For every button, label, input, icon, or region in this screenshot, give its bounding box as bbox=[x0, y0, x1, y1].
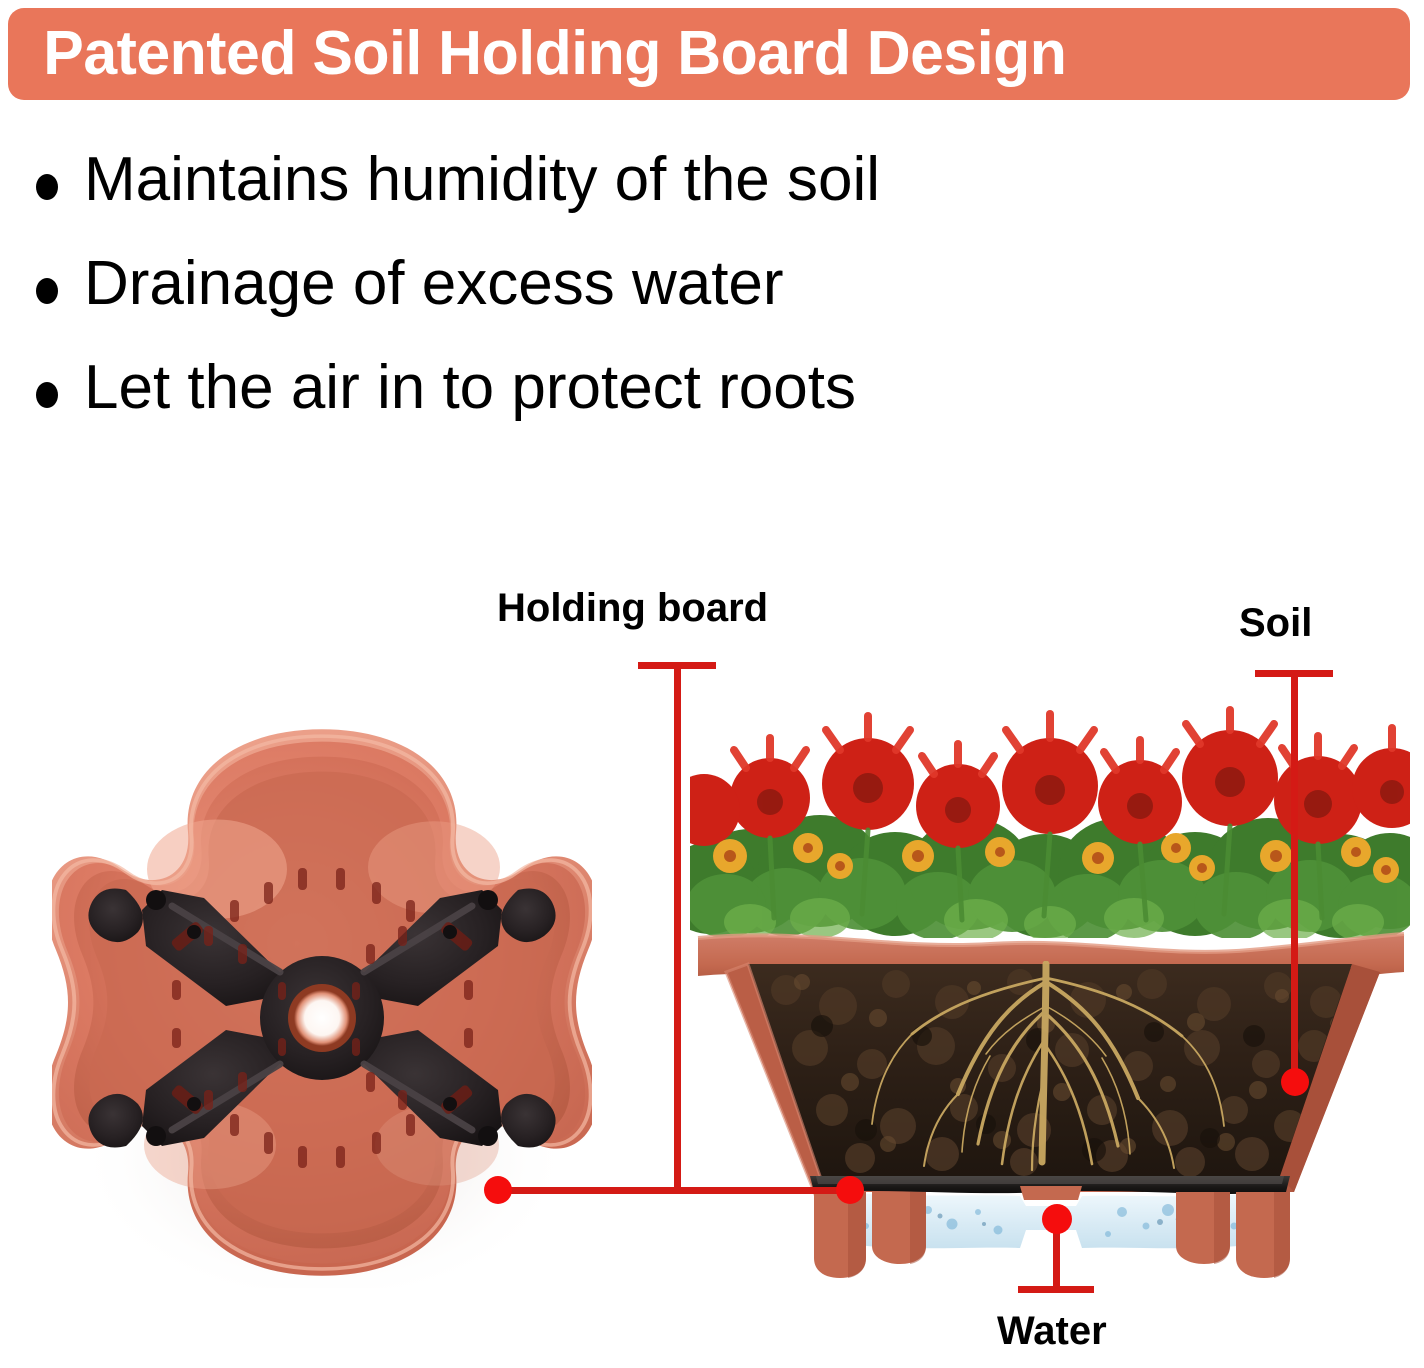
bullet-dot-icon bbox=[36, 278, 58, 304]
feature-label: Let the air in to protect roots bbox=[84, 356, 856, 420]
planter-cross-section-image bbox=[690, 706, 1410, 1286]
soil-leader-vertical bbox=[1291, 670, 1298, 1082]
feature-label: Drainage of excess water bbox=[84, 252, 784, 316]
callout-label-holding-board: Holding board bbox=[497, 588, 768, 628]
soil-marker bbox=[1281, 1068, 1309, 1096]
holding-board-leader-horizontal bbox=[498, 1187, 850, 1194]
holding-board-leader-vertical bbox=[674, 662, 681, 1190]
list-item: Let the air in to protect roots bbox=[36, 356, 1136, 460]
feature-label: Maintains humidity of the soil bbox=[84, 148, 880, 212]
feature-list: Maintains humidity of the soil Drainage … bbox=[36, 148, 1136, 460]
water-leader-bar bbox=[1018, 1286, 1094, 1293]
list-item: Maintains humidity of the soil bbox=[36, 148, 1136, 252]
planter-top-view-image bbox=[52, 718, 592, 1288]
flower-cluster bbox=[690, 710, 1410, 942]
callout-label-water: Water bbox=[997, 1311, 1107, 1351]
page-title: Patented Soil Holding Board Design bbox=[8, 23, 1066, 85]
infographic-page: Patented Soil Holding Board Design Maint… bbox=[0, 0, 1424, 1368]
holding-board-marker-right bbox=[836, 1176, 864, 1204]
bullet-dot-icon bbox=[36, 382, 58, 408]
holding-board-marker-left bbox=[484, 1176, 512, 1204]
header-banner: Patented Soil Holding Board Design bbox=[8, 8, 1410, 100]
water-marker bbox=[1042, 1204, 1072, 1234]
callout-label-soil: Soil bbox=[1239, 603, 1312, 643]
bullet-dot-icon bbox=[36, 174, 58, 200]
list-item: Drainage of excess water bbox=[36, 252, 1136, 356]
